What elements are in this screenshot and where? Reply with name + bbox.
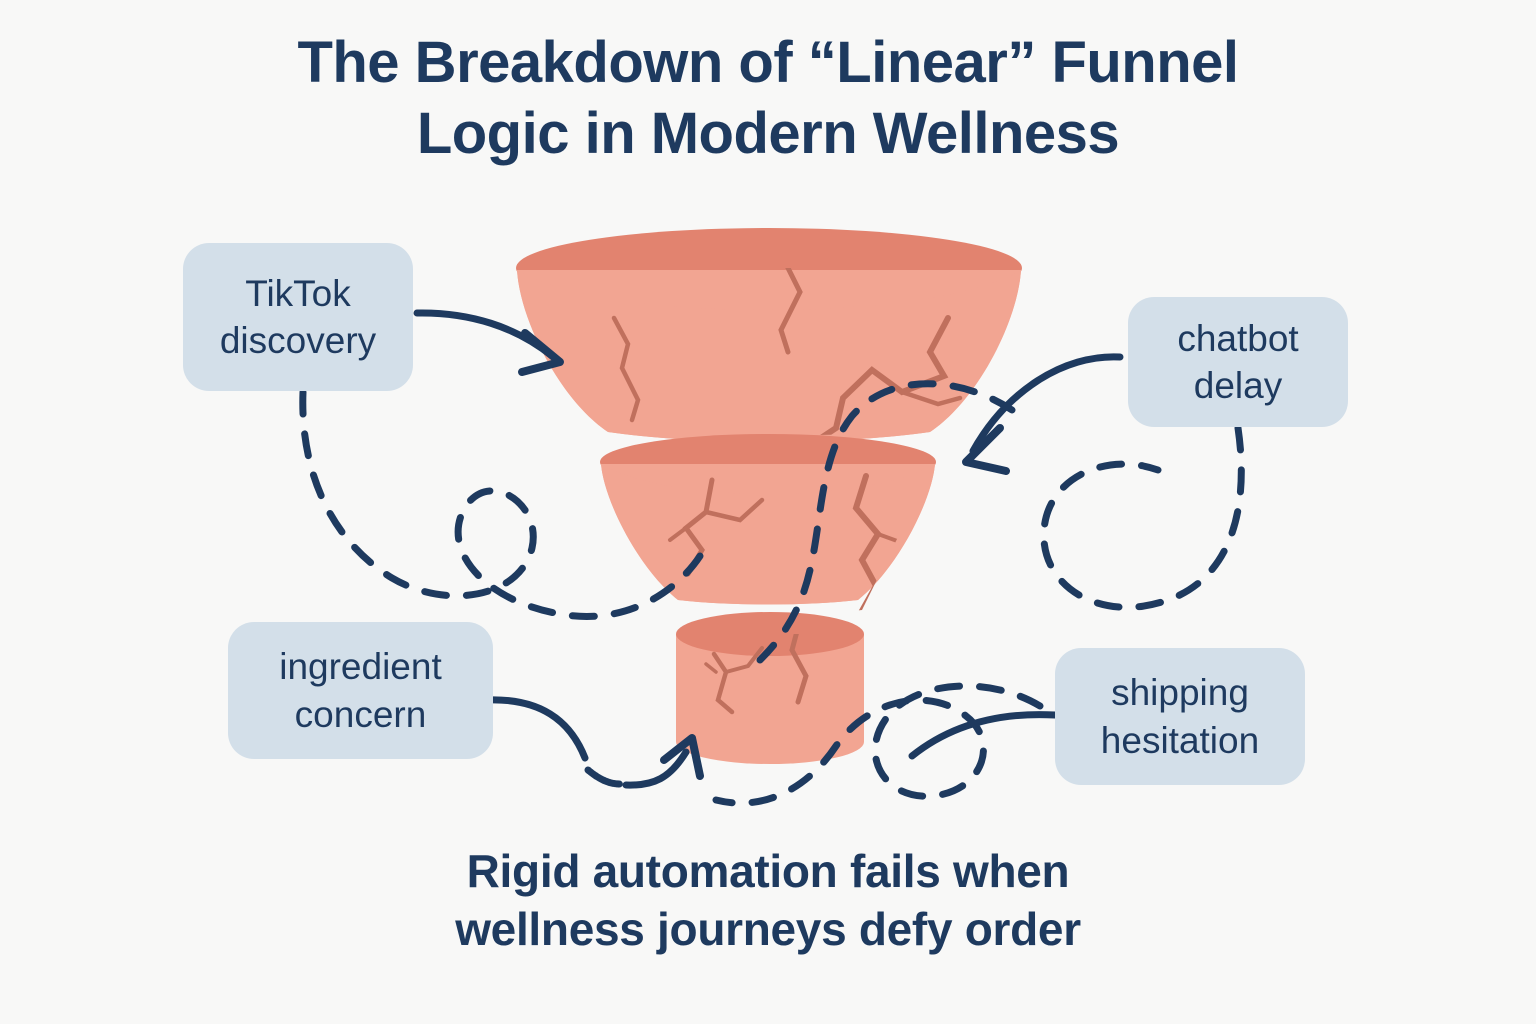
label-chatbot-delay[interactable]: chatbot delay: [1128, 297, 1348, 427]
funnel-segment-middle: [600, 434, 936, 640]
label-chatbot-line-2: delay: [1194, 362, 1282, 409]
infographic-canvas: The Breakdown of “Linear” Funnel Logic i…: [0, 0, 1536, 1024]
label-shipping-hesitation[interactable]: shipping hesitation: [1055, 648, 1305, 785]
funnel-segment-top: [516, 228, 1022, 452]
dashed-loop-left: [303, 392, 700, 616]
top-segment-cracks: [614, 240, 960, 452]
label-ingredient-line-1: ingredient: [279, 643, 442, 690]
title-line-1: The Breakdown of “Linear” Funnel: [0, 28, 1536, 99]
top-segment-front: [517, 270, 1021, 442]
label-tiktok-line-2: discovery: [220, 317, 376, 364]
top-segment-body: [517, 270, 1021, 442]
bottom-segment-cracks: [706, 620, 806, 712]
bottom-segment-body: [676, 634, 864, 764]
middle-segment-body: [601, 464, 935, 605]
middle-segment-rim: [600, 434, 936, 490]
dashed-loop-right: [1044, 428, 1242, 607]
arrow-shipping-to-funnel: [912, 715, 1055, 756]
label-tiktok-discovery[interactable]: TikTok discovery: [183, 243, 413, 391]
funnel-segment-bottom: [676, 612, 864, 764]
middle-segment-cracks: [670, 476, 912, 640]
dashed-crossing-center: [760, 384, 1012, 660]
caption-line-1: Rigid automation fails when: [0, 843, 1536, 901]
page-title: The Breakdown of “Linear” Funnel Logic i…: [0, 28, 1536, 170]
middle-segment-front: [601, 464, 935, 605]
arrow-ingredient-to-funnel: [487, 700, 700, 785]
arrow-tiktok-to-funnel: [417, 313, 560, 372]
label-shipping-line-2: hesitation: [1101, 717, 1259, 764]
label-ingredient-line-2: concern: [295, 691, 427, 738]
top-segment-rim: [516, 228, 1022, 308]
label-ingredient-concern[interactable]: ingredient concern: [228, 622, 493, 759]
title-line-2: Logic in Modern Wellness: [0, 99, 1536, 170]
arrow-chatbot-to-funnel: [966, 357, 1120, 471]
label-chatbot-line-1: chatbot: [1177, 315, 1298, 362]
bottom-segment-top-face: [676, 612, 864, 656]
dashed-loop-bottom-right: [716, 686, 1040, 803]
caption: Rigid automation fails when wellness jou…: [0, 843, 1536, 959]
label-shipping-line-1: shipping: [1111, 669, 1249, 716]
label-tiktok-line-1: TikTok: [245, 270, 351, 317]
caption-line-2: wellness journeys defy order: [0, 901, 1536, 959]
